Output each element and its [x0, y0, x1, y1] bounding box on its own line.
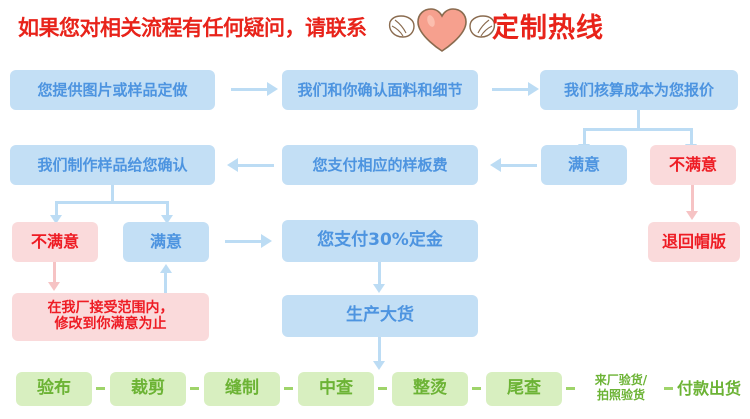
node-bulk-production[interactable]: 生产大货	[282, 295, 478, 337]
node-make-sample[interactable]: 我们制作样品给您确认	[10, 145, 215, 185]
step-separator-2	[190, 387, 199, 390]
factory-inspection-line-2: 拍照验货	[597, 388, 645, 403]
step-separator-6	[566, 387, 575, 390]
modify-line-2: 修改到你满意为止	[55, 317, 167, 333]
step-separator-1	[96, 387, 105, 390]
node-modify-until-satisfied: 在我厂接受范围内， 修改到你满意为止	[12, 293, 209, 341]
node-cutting[interactable]: 裁剪	[110, 372, 186, 406]
node-satisfied-2[interactable]: 满意	[123, 222, 209, 262]
node-provide-image[interactable]: 您提供图片或样品定做	[10, 70, 215, 110]
node-final-inspection[interactable]: 尾查	[486, 372, 562, 406]
node-pay-sample-fee[interactable]: 您支付相应的样板费	[282, 145, 478, 185]
node-satisfied-1[interactable]: 满意	[541, 145, 627, 185]
hotline-label: 定制热线	[492, 6, 604, 45]
step-separator-5	[472, 387, 481, 390]
modify-line-1: 在我厂接受范围内，	[48, 301, 174, 317]
node-fabric-inspection[interactable]: 验布	[16, 372, 92, 406]
header-banner: 如果您对相关流程有任何疑问，请联系 定制热线	[0, 0, 750, 56]
node-factory-inspection: 来厂验货/ 拍照验货	[578, 364, 664, 412]
node-confirm-fabric[interactable]: 我们和你确认面料和细节	[282, 70, 478, 110]
node-unsatisfied-2[interactable]: 不满意	[12, 222, 98, 262]
node-quote-cost[interactable]: 我们核算成本为您报价	[540, 70, 738, 110]
node-payment-shipping[interactable]: 付款出货	[672, 372, 746, 406]
factory-inspection-line-1: 来厂验货/	[595, 373, 647, 388]
node-ironing[interactable]: 整烫	[392, 372, 468, 406]
header-question-text: 如果您对相关流程有任何疑问，请联系	[18, 12, 367, 42]
node-mid-inspection[interactable]: 中查	[298, 372, 374, 406]
node-return-cap-sample[interactable]: 退回帽版	[648, 222, 740, 262]
flowchart-canvas: 如果您对相关流程有任何疑问，请联系 定制热线	[0, 0, 750, 419]
node-unsatisfied-1[interactable]: 不满意	[650, 145, 736, 185]
node-pay-deposit[interactable]: 您支付30%定金	[282, 220, 478, 262]
step-separator-3	[284, 387, 293, 390]
node-sewing[interactable]: 缝制	[204, 372, 280, 406]
winged-heart-icon	[388, 4, 496, 52]
step-separator-4	[378, 387, 387, 390]
